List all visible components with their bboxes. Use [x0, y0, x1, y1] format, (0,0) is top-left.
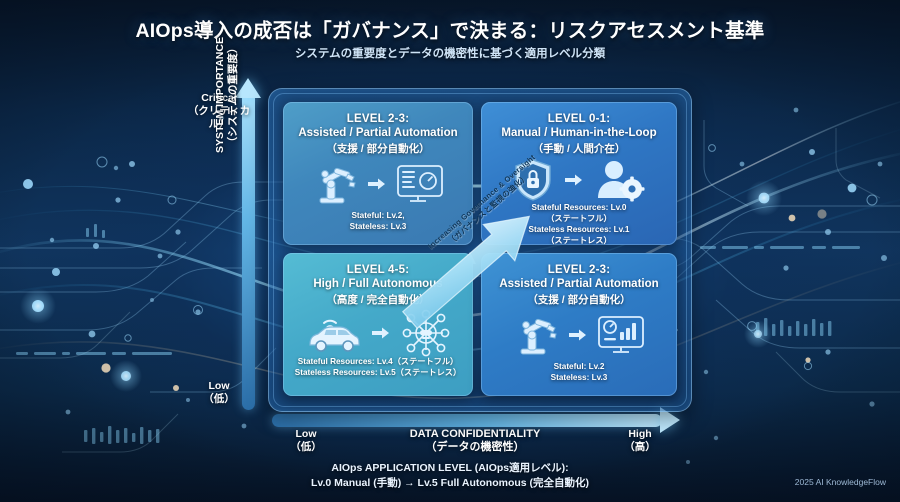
x-axis-low-label: Low （低）: [278, 428, 334, 454]
connected-car-icon: [304, 312, 362, 354]
x-axis-high-label: High （高）: [612, 428, 668, 454]
y-axis-bottom-label-en: Low: [209, 380, 230, 392]
quadrant-tr-name-jp: （手動 / 人間介在）: [481, 141, 677, 156]
quadrant-tl-res2: Stateless: Lv.3: [350, 222, 407, 231]
quadrant-br-name: Assisted / Partial Automation: [481, 278, 677, 290]
arrow-right-icon: [565, 173, 583, 187]
arrow-right-icon: [372, 326, 390, 340]
quadrant-bl-resources: Stateful Resources: Lv.4（ステートフル） Statele…: [283, 356, 473, 378]
credit-label: 2025 AI KnowledgeFlow: [795, 477, 886, 487]
quadrant-br-name-jp: （支援 / 部分自動化）: [481, 292, 677, 307]
x-axis-low-label-jp: （低）: [290, 441, 322, 453]
quadrant-tr-res1: Stateful Resources: Lv.0: [532, 203, 627, 212]
monitor-chart-icon: [597, 314, 645, 356]
quadrant-bottom-left[interactable]: LEVEL 4-5: High / Full Autonomous （高度 / …: [283, 253, 473, 396]
quadrant-top-left[interactable]: LEVEL 2-3: Assisted / Partial Automation…: [283, 102, 473, 245]
quadrant-bl-level: LEVEL 4-5:: [283, 264, 473, 276]
footer-line-1: AIOps APPLICATION LEVEL (AIOps適用レベル):: [0, 460, 900, 475]
quadrant-br-resources: Stateful: Lv.2 Stateless: Lv.3: [481, 361, 677, 383]
x-axis-high-label-jp: （高）: [624, 441, 656, 453]
x-axis-bar: [272, 414, 662, 427]
quadrant-bl-res2: Stateless Resources: Lv.5（ステートレス）: [295, 368, 461, 377]
arrow-right-icon: [368, 177, 386, 191]
footer-line-2: Lv.0 Manual (手動) → Lv.5 Full Autonomous …: [0, 475, 900, 490]
robot-arm-icon: [312, 162, 358, 206]
monitor-gauge-icon: [396, 163, 444, 205]
x-axis-low-label-en: Low: [296, 428, 317, 440]
quadrant-tr-res4: （ステートレス）: [546, 236, 612, 245]
x-axis-title: DATA CONFIDENTIALITY （データの機密性）: [350, 428, 600, 454]
quadrant-tl-level: LEVEL 2-3:: [283, 113, 473, 125]
y-axis-title: SYSTEM IMPORTANCE （システムの重要度）: [214, 15, 240, 175]
quadrant-tl-name: Assisted / Partial Automation: [283, 127, 473, 139]
quadrant-br-res1: Stateful: Lv.2: [554, 362, 605, 371]
y-axis-bottom-label-jp: （低）: [203, 393, 235, 405]
y-axis-bottom-label: Low （低）: [186, 380, 252, 406]
page-subtitle: システムの重要度とデータの機密性に基づく適用レベル分類: [0, 45, 900, 61]
x-axis-title-jp: （データの機密性）: [426, 441, 525, 453]
robot-arm-icon: [513, 313, 559, 357]
quadrant-tr-res3: Stateless Resources: Lv.1: [529, 225, 630, 234]
y-axis-title-en: SYSTEM IMPORTANCE: [214, 37, 226, 153]
quadrant-bl-res1: Stateful Resources: Lv.4（ステートフル）: [298, 357, 458, 366]
quadrant-br-level: LEVEL 2-3:: [481, 264, 677, 276]
arrow-right-icon: [569, 328, 587, 342]
quadrant-tr-name: Manual / Human-in-the-Loop: [481, 127, 677, 139]
infographic-canvas: AIOps導入の成否は「ガバナンス」で決まる：リスクアセスメント基準 システムの…: [0, 0, 900, 502]
x-axis-high-label-en: High: [628, 428, 651, 440]
quadrant-tl-res1: Stateful: Lv.2,: [351, 211, 404, 220]
quadrant-tl-name-jp: （支援 / 部分自動化）: [283, 141, 473, 156]
quadrant-bl-name-jp: （高度 / 完全自動化）: [283, 292, 473, 307]
x-axis-title-en: DATA CONFIDENTIALITY: [410, 428, 541, 440]
y-axis-title-jp: （システムの重要度）: [227, 43, 239, 148]
network-hub-icon: [400, 308, 452, 358]
person-gear-icon: [595, 158, 645, 202]
quadrant-bl-name: High / Full Autonomous: [283, 278, 473, 290]
quadrant-bottom-right[interactable]: LEVEL 2-3: Assisted / Partial Automation…: [481, 253, 677, 396]
quadrant-tr-level: LEVEL 0-1:: [481, 113, 677, 125]
quadrant-tr-res2: （ステートフル）: [546, 214, 612, 223]
y-axis-bar: [242, 92, 255, 410]
quadrant-tr-resources: Stateful Resources: Lv.0 （ステートフル） Statel…: [481, 202, 677, 245]
quadrant-br-res2: Stateless: Lv.3: [551, 373, 608, 382]
page-title: AIOps導入の成否は「ガバナンス」で決まる：リスクアセスメント基準: [0, 14, 900, 43]
